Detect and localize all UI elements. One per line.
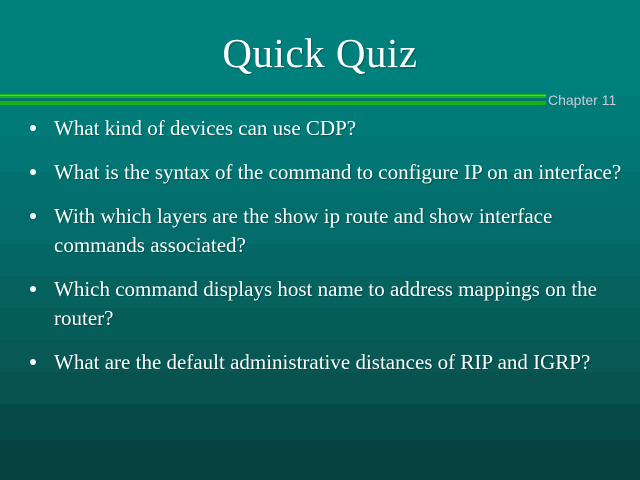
- divider-rule-highlight: [0, 95, 546, 96]
- list-item: What are the default administrative dist…: [18, 348, 626, 377]
- bullet-dot-icon: [30, 359, 36, 365]
- list-item: What kind of devices can use CDP?: [18, 114, 626, 143]
- list-item-label: What are the default administrative dist…: [54, 348, 626, 377]
- bullet-dot-icon: [30, 169, 36, 175]
- list-item-label: What kind of devices can use CDP?: [54, 114, 626, 143]
- divider-rule-lower: [0, 101, 546, 105]
- bullet-list: What kind of devices can use CDP? What i…: [18, 114, 626, 392]
- list-item: What is the syntax of the command to con…: [18, 158, 626, 187]
- presentation-slide: Quick Quiz Chapter 11 What kind of devic…: [0, 0, 640, 480]
- bullet-dot-icon: [30, 125, 36, 131]
- bullet-dot-icon: [30, 213, 36, 219]
- chapter-label: Chapter 11: [548, 92, 616, 109]
- list-item: With which layers are the show ip route …: [18, 202, 626, 260]
- list-item-label: With which layers are the show ip route …: [54, 202, 626, 260]
- list-item-label: Which command displays host name to addr…: [54, 275, 626, 333]
- title-divider-rule: [0, 94, 546, 107]
- list-item: Which command displays host name to addr…: [18, 275, 626, 333]
- list-item-label: What is the syntax of the command to con…: [54, 158, 626, 187]
- bullet-dot-icon: [30, 286, 36, 292]
- page-title: Quick Quiz: [0, 28, 640, 78]
